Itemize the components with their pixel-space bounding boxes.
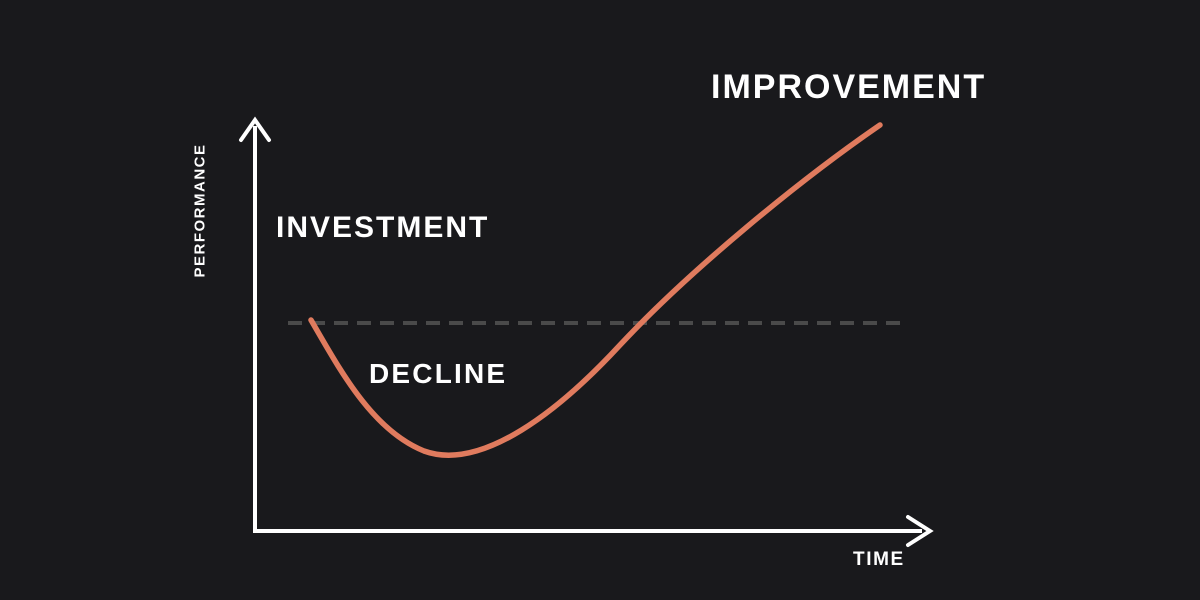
j-curve-chart: IMPROVEMENT INVESTMENT DECLINE TIME PERF…: [0, 0, 1200, 600]
y-axis: [241, 120, 269, 531]
j-curve-line: [311, 125, 880, 455]
annotation-decline: DECLINE: [369, 358, 507, 390]
y-axis-label: PERFORMANCE: [192, 143, 209, 277]
annotation-improvement: IMPROVEMENT: [711, 68, 986, 107]
chart-canvas: [0, 0, 1200, 600]
x-axis-label: TIME: [853, 549, 905, 571]
x-axis: [253, 517, 930, 545]
annotation-investment: INVESTMENT: [276, 211, 489, 245]
